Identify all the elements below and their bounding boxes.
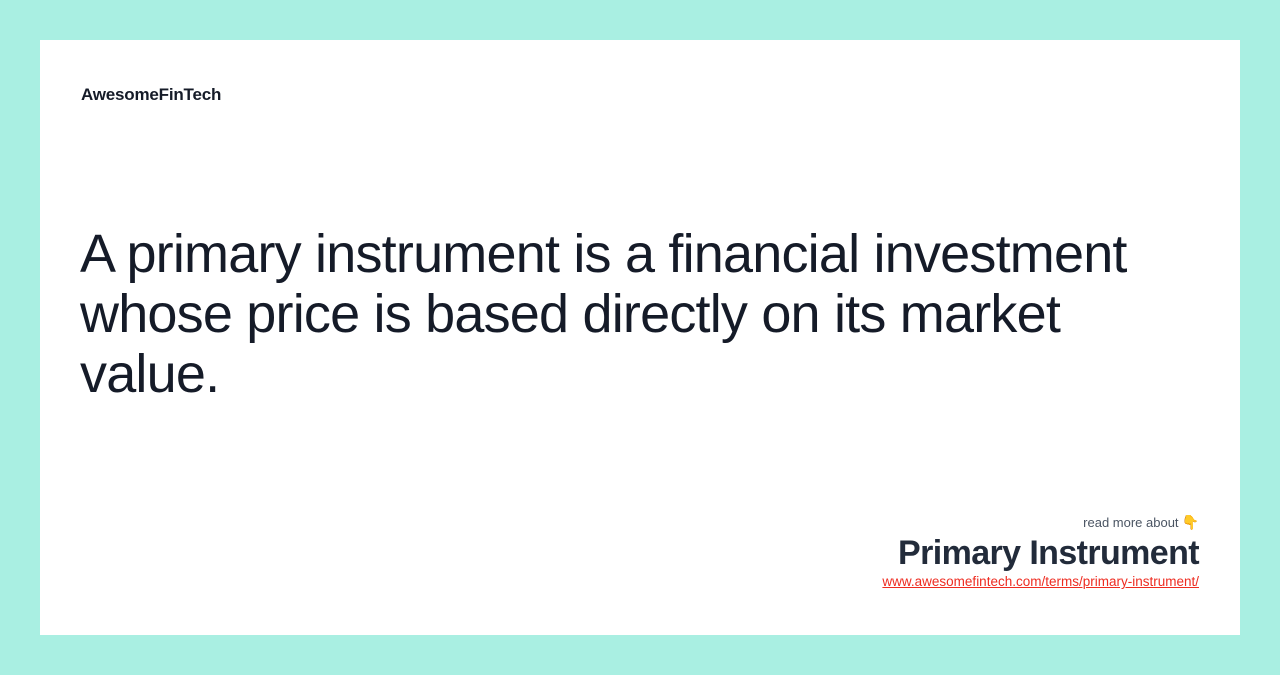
pointing-down-icon: 👇 (1182, 514, 1199, 530)
brand-logo-text: AwesomeFinTech (81, 85, 221, 105)
content-card: AwesomeFinTech A primary instrument is a… (40, 40, 1240, 635)
read-more-line: read more about👇 (882, 514, 1199, 531)
definition-quote: A primary instrument is a financial inve… (80, 224, 1200, 404)
term-title: Primary Instrument (882, 533, 1199, 573)
read-more-label: read more about (1083, 515, 1178, 530)
page-background: AwesomeFinTech A primary instrument is a… (0, 0, 1280, 675)
term-url-link[interactable]: www.awesomefintech.com/terms/primary-ins… (882, 573, 1199, 590)
footer-block: read more about👇 Primary Instrument www.… (882, 514, 1199, 591)
